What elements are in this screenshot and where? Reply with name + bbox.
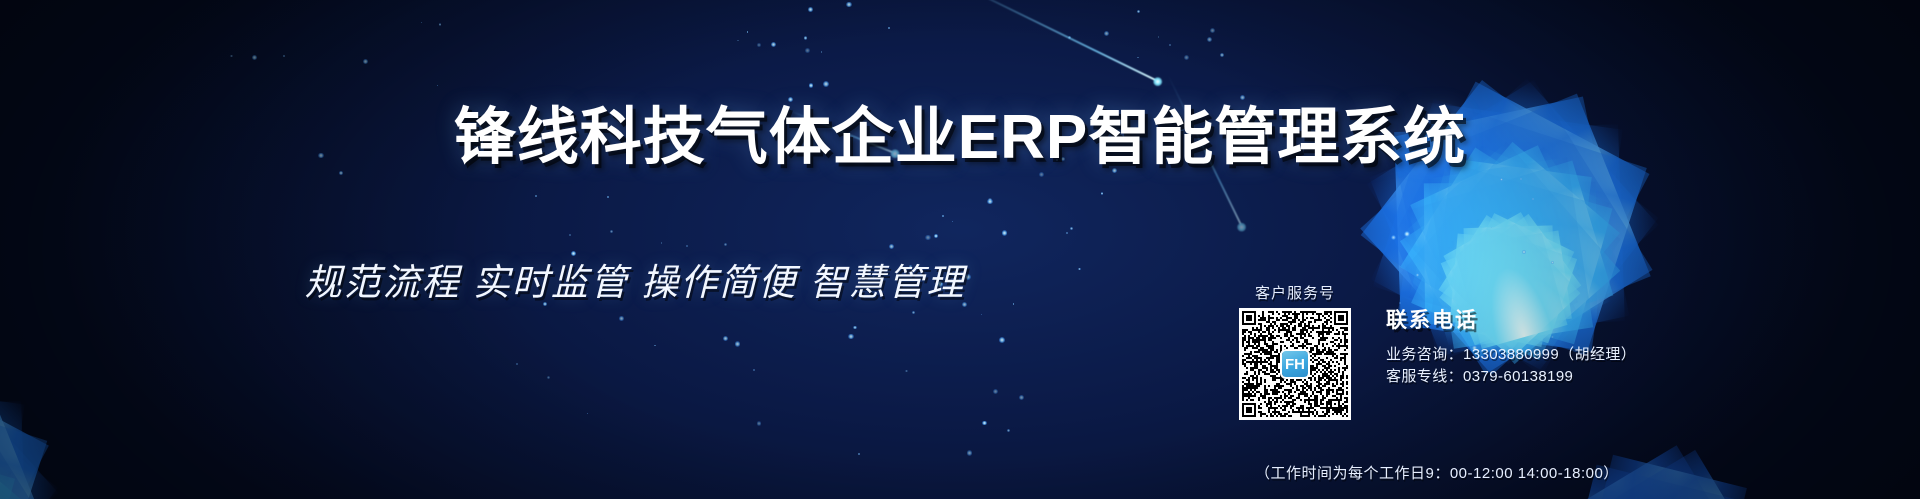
qr-center-logo-icon: FH [1282,351,1308,377]
qr-code-image[interactable]: FH [1239,308,1351,420]
work-hours-note: （工作时间为每个工作日9：00-12:00 14:00-18:00） [1255,462,1619,483]
qr-caption-label: 客户服务号 [1255,282,1335,303]
qr-column: 客户服务号 FH [1230,282,1360,420]
phone-heading: 联系电话 [1386,304,1636,334]
phone-column: 联系电话 业务咨询：13303880999（胡经理） 客服专线：0379-601… [1386,282,1636,388]
erp-hero-banner: 锋线科技气体企业ERP智能管理系统 规范流程 实时监管 操作简便 智慧管理 客户… [0,0,1920,499]
page-title: 锋线科技气体企业ERP智能管理系统 [0,86,1920,176]
phone-line-support: 客服专线：0379-60138199 [1386,366,1636,388]
contact-block: 客户服务号 FH 联系电话 业务咨询：13303880999（胡经理） 客服专线… [1230,282,1830,420]
phone-line-sales: 业务咨询：13303880999（胡经理） [1386,344,1636,366]
